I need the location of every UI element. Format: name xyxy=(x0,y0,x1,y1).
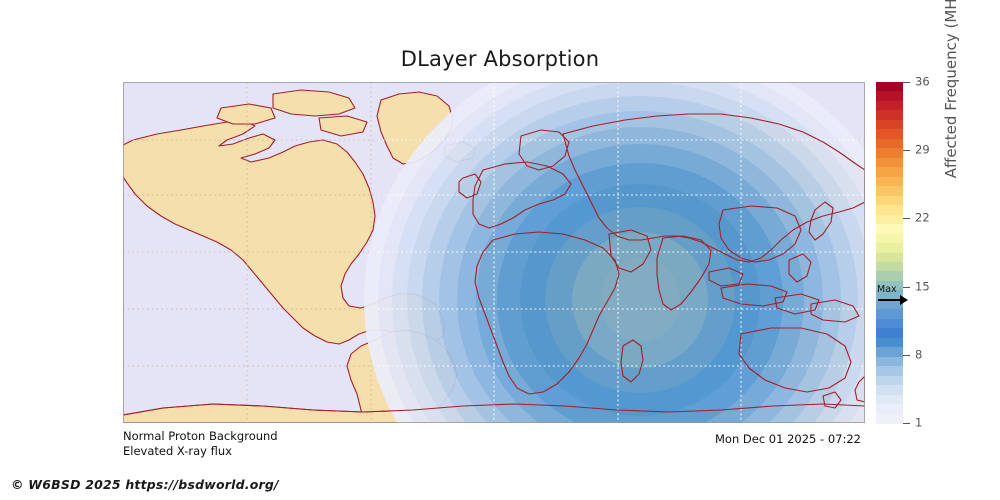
colorbar-tick-label: 8 xyxy=(915,349,922,361)
page-title: DLayer Absorption xyxy=(0,47,1000,71)
colorbar-tick-mark xyxy=(903,218,910,219)
colorbar-axis-label: Affected Frequency (MHz) xyxy=(939,0,963,252)
absorption-band-13 xyxy=(600,258,680,342)
colorbar-tick-label: 22 xyxy=(915,213,930,225)
colorbar-tick-label: 1 xyxy=(915,417,922,429)
world-map-panel[interactable] xyxy=(123,82,865,423)
colorbar[interactable]: 1815222936 Max xyxy=(876,82,903,423)
dlayer-absorption-plot: DLayer Absorption xyxy=(0,0,1000,500)
timestamp: Mon Dec 01 2025 - 07:22 xyxy=(715,432,861,447)
footer-copyright: © W6BSD 2025 https://bsdworld.org/ xyxy=(11,477,279,492)
status-proton-background: Normal Proton Background xyxy=(123,429,278,444)
colorbar-tick-mark xyxy=(903,82,910,83)
colorbar-tick-mark xyxy=(903,423,910,424)
colorbar-tick-label: 15 xyxy=(915,281,930,293)
colorbar-gradient xyxy=(876,82,903,423)
status-notes: Normal Proton Background Elevated X-ray … xyxy=(123,429,278,459)
colorbar-tick-mark xyxy=(903,150,910,151)
colorbar-band xyxy=(876,414,903,424)
world-map-svg xyxy=(123,82,865,423)
land-arctic-islands-2 xyxy=(217,104,275,124)
colorbar-tick-mark xyxy=(903,355,910,356)
colorbar-tick-label: 29 xyxy=(915,144,930,156)
colorbar-tick-mark xyxy=(903,287,910,288)
status-xray-flux: Elevated X-ray flux xyxy=(123,444,278,459)
colorbar-tick-label: 36 xyxy=(915,76,930,88)
